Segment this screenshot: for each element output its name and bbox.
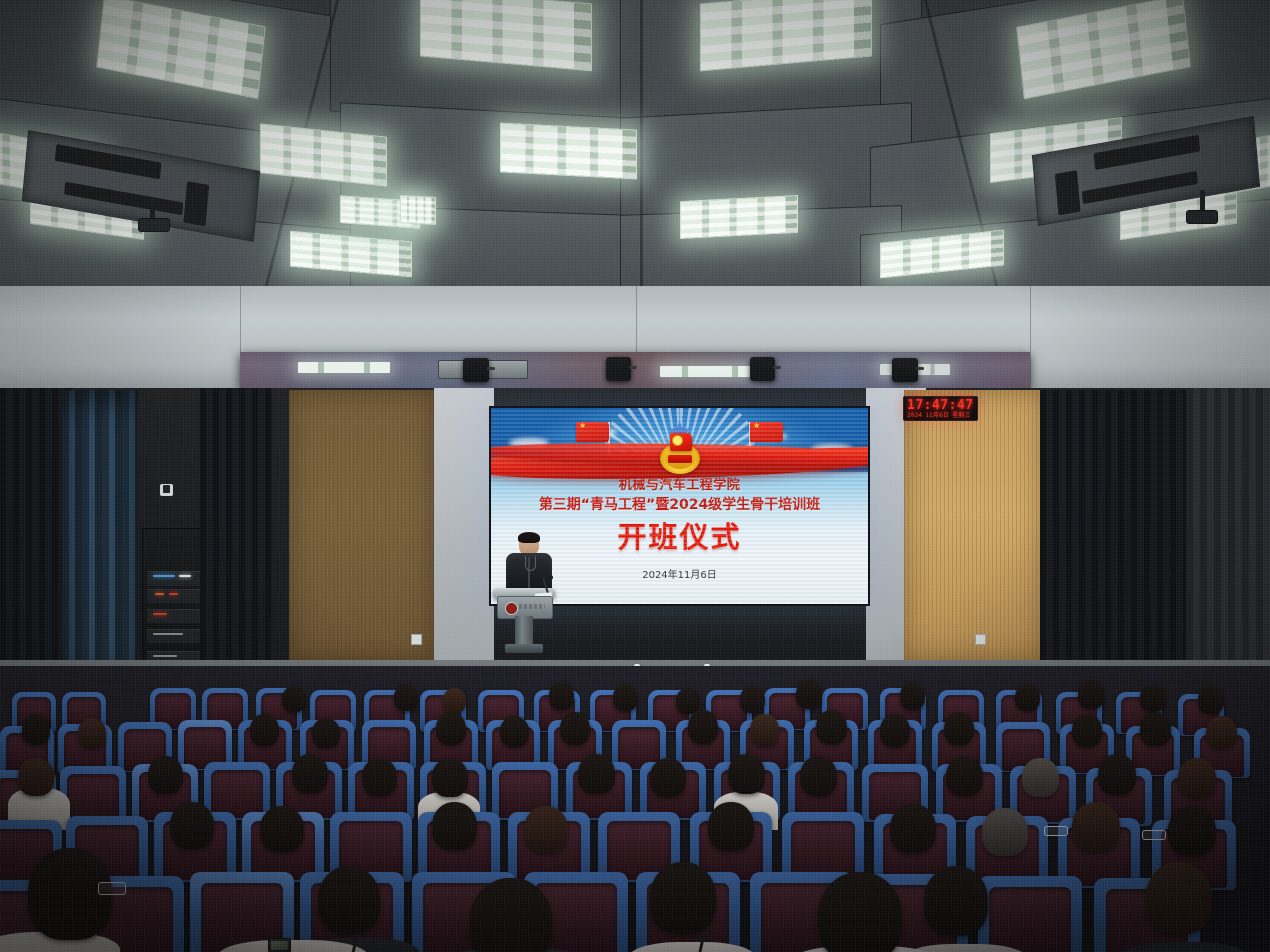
audience-head — [613, 684, 638, 711]
blue-stage-curtain — [62, 390, 138, 662]
audience-head — [1098, 754, 1136, 795]
audience-head — [578, 754, 615, 794]
audience-head — [1178, 758, 1216, 798]
wood-acoustic-panel-right — [904, 390, 1044, 662]
clock-time: 17:47:47 — [907, 399, 974, 412]
audience-head — [362, 758, 397, 796]
ceiling-light-panel — [400, 195, 436, 225]
audience-head — [750, 714, 779, 746]
audience-head — [796, 680, 822, 709]
ceiling-projector — [138, 218, 170, 232]
blackout-curtain-right — [1040, 390, 1188, 680]
audience-head — [432, 802, 477, 850]
audience-head — [470, 878, 552, 952]
national-flag — [750, 422, 783, 442]
auditorium-photo: 17:47:47 2024 11月6日 星期三 — [0, 0, 1270, 952]
communist-youth-league-emblem — [659, 431, 701, 475]
podium-microphone-head — [548, 575, 553, 580]
audience-head — [260, 806, 304, 852]
eyeglasses — [1142, 830, 1166, 840]
audience-head — [688, 710, 718, 744]
eyeglasses — [1044, 826, 1068, 836]
slide-program-line: 第三期“青马工程”暨2024级学生骨干培训班 — [491, 494, 868, 514]
audience-head — [22, 714, 50, 745]
wall-camera — [160, 484, 173, 496]
audience-head — [524, 806, 568, 853]
audience-head — [500, 716, 529, 747]
audience-head — [982, 808, 1028, 856]
wall-switch — [975, 634, 986, 645]
suspended-tile-ceiling — [0, 0, 1270, 300]
audience-head — [944, 712, 974, 745]
audience-head — [1206, 716, 1237, 749]
audience-head — [432, 758, 468, 797]
audience-head — [890, 804, 936, 853]
auditorium-seat — [978, 876, 1082, 952]
led-wall-clock: 17:47:47 2024 11月6日 星期三 — [903, 396, 978, 421]
audience-head — [312, 718, 340, 748]
clock-date: 2024 11月6日 星期三 — [907, 412, 974, 419]
screen-surround-wall — [434, 388, 494, 664]
audience-head — [1198, 686, 1224, 714]
audience-head — [900, 682, 925, 710]
audience-head — [1015, 684, 1040, 711]
audience-head — [650, 862, 716, 934]
ceiling-light-panel — [680, 195, 798, 239]
speaking-podium — [493, 588, 555, 660]
audience-head — [436, 712, 466, 745]
audience-head — [740, 686, 765, 713]
audience-head — [18, 758, 54, 796]
wood-acoustic-panel-left — [289, 390, 434, 662]
university-name-plate — [519, 604, 545, 609]
audience-head — [708, 802, 754, 851]
audience-head — [1072, 802, 1120, 852]
wall-switch — [411, 634, 422, 645]
presenter-hair — [518, 532, 540, 543]
audience-head — [318, 866, 380, 934]
wall-speaker — [463, 358, 489, 382]
presenter-lanyard — [525, 556, 536, 571]
audience-head — [728, 754, 765, 794]
audience-head — [1140, 712, 1171, 746]
audience-head — [292, 754, 328, 793]
ceiling-light-panel — [500, 122, 637, 179]
audience-head — [170, 802, 214, 849]
audience-head — [800, 756, 837, 796]
audience-head — [946, 756, 983, 796]
clock-date-weekday: 星期三 — [952, 412, 971, 419]
clock-date-day: 11月6日 — [925, 412, 949, 419]
ceiling-projector — [1186, 210, 1218, 224]
blackout-curtain-far-right — [1186, 388, 1270, 688]
national-flag — [576, 422, 609, 442]
audience-head — [1072, 714, 1102, 747]
seated-audience — [0, 666, 1270, 952]
audience-head — [1022, 758, 1059, 797]
wall-speaker — [606, 357, 631, 381]
audience-head — [650, 758, 686, 797]
wall-speaker — [892, 358, 918, 382]
audience-head — [880, 714, 910, 747]
audience-head — [394, 684, 418, 711]
audience-head — [1140, 684, 1166, 712]
audience-head — [1146, 862, 1212, 934]
wall-speaker — [750, 357, 775, 381]
slide-college-line: 机械与汽车工程学院 — [491, 474, 868, 493]
audience-head — [250, 714, 279, 746]
audience-head — [816, 710, 847, 744]
audience-head — [924, 866, 988, 936]
audience-head — [1168, 806, 1216, 856]
clock-date-year: 2024 — [907, 412, 922, 419]
mobile-phone[interactable] — [268, 938, 291, 952]
audience-head — [549, 682, 574, 710]
audience-head — [148, 756, 183, 794]
university-crest — [505, 602, 518, 615]
audience-head — [282, 686, 306, 712]
audience-head — [1078, 680, 1104, 709]
eyeglasses — [98, 882, 126, 895]
audience-head — [78, 718, 106, 748]
audience-head — [818, 872, 902, 952]
audience-head — [560, 712, 590, 745]
audience-head — [443, 688, 466, 713]
